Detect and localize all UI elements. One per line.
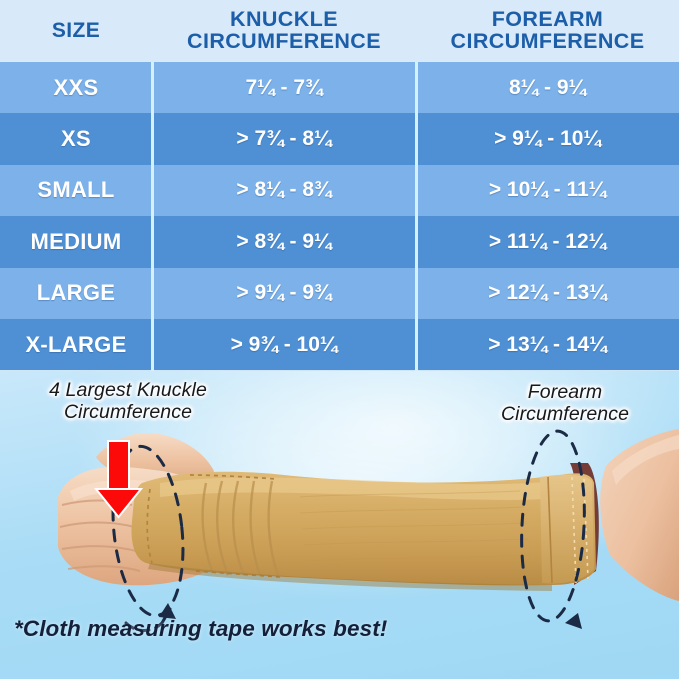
cell-forearm: > 9¼ - 10¼ (416, 113, 679, 164)
table-row: X-LARGE > 9¾ - 10¼ > 13¼ - 14¼ (0, 319, 679, 370)
cell-size: LARGE (0, 268, 152, 319)
knuckle-annotation-label: 4 Largest Knuckle Circumference (18, 379, 238, 423)
column-header-size: SIZE (0, 0, 152, 62)
measurement-photo: 4 Largest Knuckle Circumference Forearm … (0, 371, 679, 679)
cell-knuckle: > 9¼ - 9¾ (152, 268, 416, 319)
cell-forearm: > 13¼ - 14¼ (416, 319, 679, 370)
size-chart-table: SIZE KNUCKLE CIRCUMFERENCE FOREARM CIRCU… (0, 0, 679, 371)
cell-forearm: > 12¼ - 13¼ (416, 268, 679, 319)
table-row: SMALL > 8¼ - 8¾ > 10¼ - 11¼ (0, 165, 679, 216)
table-row: MEDIUM > 8¾ - 9¼ > 11¼ - 12¼ (0, 216, 679, 267)
column-header-forearm-circumference: FOREARM CIRCUMFERENCE (416, 0, 679, 62)
cell-size: XS (0, 113, 152, 164)
table-row: XXS 7¼ - 7¾ 8¼ - 9¼ (0, 62, 679, 113)
table-header-row: SIZE KNUCKLE CIRCUMFERENCE FOREARM CIRCU… (0, 0, 679, 62)
cell-forearm: > 11¼ - 12¼ (416, 216, 679, 267)
forearm-annotation-label: Forearm Circumference (470, 381, 660, 425)
size-chart-page: SIZE KNUCKLE CIRCUMFERENCE FOREARM CIRCU… (0, 0, 679, 679)
cell-size: SMALL (0, 165, 152, 216)
cell-forearm: 8¼ - 9¼ (416, 62, 679, 113)
measuring-tape-note: *Cloth measuring tape works best! (14, 616, 387, 642)
cell-knuckle: > 8¾ - 9¼ (152, 216, 416, 267)
cell-knuckle: > 9¾ - 10¼ (152, 319, 416, 370)
column-divider (151, 62, 154, 371)
cell-forearm: > 10¼ - 11¼ (416, 165, 679, 216)
table-row: LARGE > 9¼ - 9¾ > 12¼ - 13¼ (0, 268, 679, 319)
cell-knuckle: > 7¾ - 8¼ (152, 113, 416, 164)
forearm-arrowhead-icon (565, 613, 582, 629)
cell-size: XXS (0, 62, 152, 113)
cell-knuckle: > 8¼ - 8¾ (152, 165, 416, 216)
cell-size: X-LARGE (0, 319, 152, 370)
table-row: XS > 7¾ - 8¼ > 9¼ - 10¼ (0, 113, 679, 164)
cell-knuckle: 7¼ - 7¾ (152, 62, 416, 113)
column-divider (415, 62, 418, 371)
cell-size: MEDIUM (0, 216, 152, 267)
column-header-knuckle-circumference: KNUCKLE CIRCUMFERENCE (152, 0, 416, 62)
